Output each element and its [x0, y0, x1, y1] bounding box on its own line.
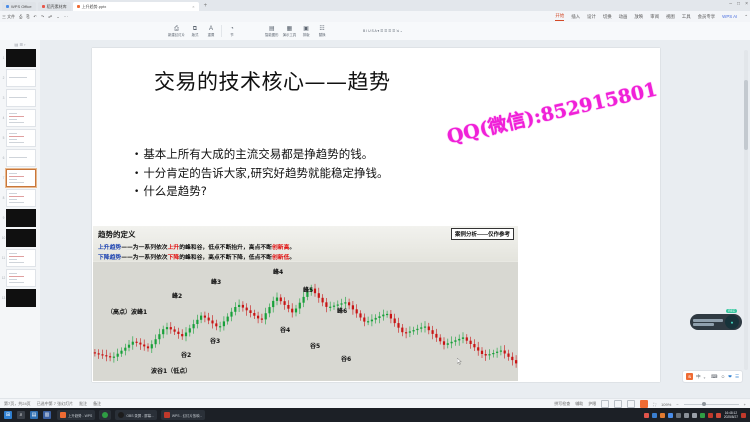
file-menu-button[interactable]: 三 文件	[0, 14, 17, 20]
thumbnail-line	[9, 273, 17, 274]
ribbon-tab-slideshow[interactable]: 放映	[634, 14, 643, 20]
ribbon-tab-wps-ai[interactable]: WPS AI	[722, 14, 737, 19]
thumbnail-row[interactable]: 3	[0, 88, 40, 108]
taskbar-app-wps-show[interactable]: WPS - 幻灯片放映...	[161, 410, 206, 420]
cloud-icon[interactable]	[668, 413, 673, 418]
thumbnail-image[interactable]	[6, 49, 36, 67]
smartart-button[interactable]: ▤ 智能图形	[265, 26, 279, 37]
uptrend-definition: 上升趋势——为一系列依次上升的峰和谷，低点不断抬升，高点不断创新高。	[98, 242, 295, 251]
thumbnail-line	[9, 262, 24, 263]
reading-view-button[interactable]	[627, 400, 635, 408]
thumbnail-image[interactable]	[6, 109, 36, 127]
thumbnail-line	[9, 77, 27, 78]
thumbnail-image[interactable]	[6, 189, 36, 207]
thumbnail-line	[9, 139, 17, 140]
app-label: WPS - 幻灯片放映...	[172, 413, 203, 418]
chart-label: 峰3	[211, 277, 221, 286]
thumbnail-image[interactable]	[6, 229, 36, 247]
thumbnail-line	[9, 157, 27, 158]
smartart-icon: ▤	[269, 26, 275, 32]
thumbnail-row[interactable]: 11	[0, 248, 40, 268]
replace-icon: ☷	[319, 26, 324, 32]
status-right-group: 拼写检查 辅助 护眼 ⛶ 109% − +	[554, 400, 750, 408]
ribbon-divider	[221, 25, 222, 37]
ribbon-tab-review[interactable]: 审阅	[650, 14, 659, 20]
slideshow-view-button[interactable]	[640, 400, 648, 408]
meter-bar	[693, 319, 723, 322]
taskbar-clock[interactable]: 16:48:12 2025/8/27	[724, 411, 738, 419]
thumbnail-line	[9, 196, 24, 197]
customize-icon[interactable]: ⌄	[54, 14, 61, 19]
replace-button[interactable]: ☷ 替换	[316, 26, 328, 37]
chart-label: 波谷1（低点）	[151, 366, 191, 375]
thumbnail-line	[9, 253, 17, 254]
tab-label: WPS Office	[11, 4, 32, 9]
selection-status: 已选中第 7 张幻灯片	[37, 401, 73, 407]
taskbar-app-chrome[interactable]	[99, 410, 111, 420]
recording-badge: REC	[726, 309, 737, 313]
layout-label: 版式	[192, 33, 199, 37]
uptrend-mid: 的峰和谷，低点不断抬升，高点不断	[179, 245, 272, 251]
present-tools-label: 演示工具	[283, 33, 297, 37]
thumbnail-line	[9, 279, 17, 280]
undo-icon[interactable]: ↶	[32, 14, 39, 19]
app-label: OBS 录屏 - 屏幕...	[126, 413, 154, 418]
thumbnail-line	[9, 276, 24, 277]
thumbnail-line	[9, 259, 17, 260]
app-icon	[118, 412, 124, 418]
chat-icon[interactable]	[644, 413, 649, 418]
ime-menu-icon[interactable]: ☰	[735, 374, 739, 380]
uptrend-end: 。	[289, 245, 295, 251]
wifi-icon[interactable]	[700, 413, 705, 418]
section-label: 节	[230, 33, 233, 37]
thumbnail-line	[9, 136, 24, 137]
thumbnail-line	[9, 182, 24, 183]
fit-window-icon[interactable]: ⛶	[653, 402, 656, 407]
thumbnail-image[interactable]	[6, 149, 36, 167]
ribbon-tab-insert[interactable]: 插入	[571, 14, 580, 20]
chart-label: （高点）波峰1	[107, 307, 147, 316]
ribbon-collapse-icon[interactable]: ⌃	[744, 14, 748, 20]
ime-logo-icon: S	[686, 373, 693, 380]
search-icon[interactable]: ⌕	[17, 411, 25, 419]
app-icon	[102, 412, 108, 418]
thumbnail-row[interactable]: 9	[0, 208, 40, 228]
eye-protection-button[interactable]: 护眼	[588, 401, 596, 407]
new-tab-button[interactable]: +	[201, 2, 211, 11]
close-window-icon[interactable]: ×	[745, 1, 748, 7]
thumbnail-line	[9, 116, 24, 117]
thumbnail-line	[9, 173, 17, 174]
downtrend-hi2: 创新低	[272, 255, 289, 261]
thumbnail-image[interactable]	[6, 269, 36, 287]
thumbnail-image[interactable]	[6, 169, 36, 187]
bullet-item: 什么是趋势?	[134, 182, 614, 201]
downtrend-hi: 下降	[168, 255, 180, 261]
system-tray: 16:48:12 2025/8/27	[644, 411, 750, 419]
uptrend-hi: 上升	[168, 245, 180, 251]
tab-icon	[42, 5, 45, 8]
minimize-icon[interactable]: –	[729, 1, 732, 7]
thumbnail-line	[9, 256, 24, 257]
taskbar-app-wps[interactable]: 上升趋势 - WPS	[57, 410, 95, 420]
replace-label: 替换	[319, 33, 326, 37]
meter-bar	[693, 323, 714, 326]
thumbnail-line	[9, 113, 17, 114]
tab-label: 上升趋势.pptx	[82, 4, 191, 10]
ime-keyboard-icon[interactable]: ⌨	[711, 374, 718, 380]
image-heading: 趋势的定义	[98, 229, 136, 240]
tab-docer[interactable]: 稻壳素材库	[38, 2, 71, 11]
typeset-button[interactable]: ▣ 排版	[300, 26, 312, 37]
close-icon[interactable]: ×	[192, 4, 194, 9]
trend-definition-image[interactable]: 趋势的定义 案例分析——仅作参考 上升趋势——为一系列依次上升的峰和谷，低点不断…	[93, 226, 518, 381]
chart-label: 谷6	[341, 354, 351, 363]
maximize-icon[interactable]: □	[737, 1, 740, 7]
redo-icon[interactable]: ↷	[39, 14, 46, 19]
touch-icon[interactable]: ☍	[46, 14, 54, 19]
status-left-group: 第7页，共24页 已选中第 7 张幻灯片 批注 备注	[0, 401, 101, 407]
thumbnail-row[interactable]: 6	[0, 148, 40, 168]
reset-button[interactable]: A 重置	[205, 26, 217, 37]
tab-icon	[6, 5, 9, 8]
thumbnail-line	[9, 122, 24, 123]
shield-icon[interactable]	[676, 413, 681, 418]
thumbnail-line	[9, 193, 17, 194]
slide-title[interactable]: 交易的技术核心——趋势	[154, 66, 584, 96]
smartart-label: 智能图形	[265, 33, 279, 37]
ime-icon[interactable]	[652, 413, 657, 418]
thumbnail-panel-header: ▤ ☰ ›	[0, 40, 40, 48]
downtrend-end: 。	[289, 255, 295, 261]
zoom-level-label: 109%	[661, 402, 671, 407]
taskbar-app-obs[interactable]: OBS 录屏 - 屏幕...	[115, 410, 157, 420]
typeset-icon: ▣	[303, 26, 309, 32]
widgets-icon[interactable]: ▥	[43, 411, 51, 419]
font-format-controls[interactable]: B I U S A ▾ ☰ ☰ ☰ ☰ ⇲ ⌄	[363, 29, 403, 33]
bullet-item: 十分肯定的告诉大家,研究好趋势就能稳定挣钱。	[134, 164, 614, 183]
reset-icon: A	[209, 26, 213, 32]
spellcheck-button[interactable]: 拼写检查	[554, 401, 570, 407]
thumbnail-row[interactable]: 10	[0, 228, 40, 248]
vertical-scrollbar[interactable]	[744, 50, 748, 370]
zoom-slider-handle[interactable]	[702, 402, 706, 406]
ribbon: ⎙ 新建幻灯片 ⧉ 版式 A 重置 ◔ 节 ▤ 智能图形 ▦	[0, 22, 750, 41]
thumbnail-line	[9, 176, 24, 177]
chart-label: 谷3	[210, 336, 220, 345]
thumbnail-line	[9, 199, 17, 200]
start-icon[interactable]: ⊞	[4, 411, 12, 419]
new-slide-label: 新建幻灯片	[168, 33, 185, 37]
more-icon[interactable]: ⋯	[62, 14, 70, 19]
ribbon-tab-tools[interactable]: 工具	[682, 14, 691, 20]
ribbon-tab-transition[interactable]: 切换	[603, 14, 612, 20]
comment-button[interactable]: 批注	[79, 401, 87, 407]
thumbnail-image[interactable]	[6, 69, 36, 87]
app-icon	[164, 412, 170, 418]
new-slide-icon: ⎙	[174, 26, 179, 32]
thumbnail-image[interactable]	[6, 249, 36, 267]
battery-icon[interactable]	[684, 413, 689, 418]
case-study-badge: 案例分析——仅作参考	[451, 228, 514, 240]
chart-label: 谷5	[310, 341, 320, 350]
slide-position-status: 第7页，共24页	[4, 401, 31, 407]
ime-chinese-icon[interactable]: 中	[696, 374, 701, 380]
tab-icon	[77, 5, 80, 8]
current-slide[interactable]: 交易的技术核心——趋势 基本上所有大成的主流交易都是挣趋势的钱。 十分肯定的告诉…	[92, 48, 660, 382]
taskbar-app-group: 上升趋势 - WPS OBS 录屏 - 屏幕... WPS - 幻灯片放映...	[51, 410, 205, 420]
thumbnail-line	[9, 97, 27, 98]
app-icon	[60, 412, 66, 418]
slide-bullet-list[interactable]: 基本上所有大成的主流交易都是挣趋势的钱。 十分肯定的告诉大家,研究好趋势就能稳定…	[134, 145, 614, 201]
taskbar-system-group: ⊞ ⌕ ▤ ▥	[0, 411, 51, 419]
taskview-icon[interactable]: ▤	[30, 411, 38, 419]
notes-button[interactable]: 备注	[93, 401, 101, 407]
ribbon-tab-design[interactable]: 设计	[587, 14, 596, 20]
reset-label: 重置	[208, 33, 215, 37]
thumbnail-line	[9, 282, 24, 283]
ime-emoji-icon[interactable]: ☺	[721, 374, 726, 379]
downtrend-term: 下降趋势	[98, 255, 121, 261]
thumbnail-line	[9, 202, 24, 203]
thumbnail-row[interactable]: 5	[0, 128, 40, 148]
thumbnail-row[interactable]: 8	[0, 188, 40, 208]
window-controls: – □ ×	[729, 1, 748, 7]
sorter-view-button[interactable]	[614, 400, 622, 408]
floating-recorder-widget[interactable]: ⏺	[690, 314, 742, 330]
thumbnail-line	[9, 119, 17, 120]
thumbnail-row[interactable]: 1	[0, 48, 40, 68]
thumbnail-line	[9, 179, 17, 180]
layout-icon: ⧉	[193, 26, 197, 32]
bullet-item: 基本上所有大成的主流交易都是挣趋势的钱。	[134, 145, 614, 164]
thumbnail-row[interactable]: 2	[0, 68, 40, 88]
print-icon[interactable]: ⎘	[24, 14, 31, 19]
chart-label: 峰5	[303, 285, 313, 294]
section-icon: ◔	[230, 26, 234, 32]
typeset-label: 排版	[303, 33, 310, 37]
downtrend-dash: ——为一系列依次	[121, 255, 167, 261]
thumbnail-image[interactable]	[6, 289, 36, 307]
ime-skin-icon[interactable]: ❤	[728, 374, 732, 380]
ribbon-tab-strip: 开始 插入 设计 切换 动画 放映 审阅 视图 工具 会员专享 WPS AI ⌃	[555, 11, 748, 22]
section-button[interactable]: ◔ 节	[226, 26, 238, 37]
mouse-cursor-icon	[457, 358, 462, 365]
app-label: 上升趋势 - WPS	[68, 413, 92, 418]
chart-label: 峰6	[337, 306, 347, 315]
tab-label: 稻壳素材库	[47, 4, 67, 10]
zoom-out-button[interactable]: −	[676, 402, 678, 407]
tab-wps-office[interactable]: WPS Office	[2, 2, 36, 11]
window-tab-bar: WPS Office 稻壳素材库 上升趋势.pptx × + – □ ×	[0, 0, 750, 11]
uptrend-hi2: 创新高	[272, 245, 289, 251]
tab-current-file[interactable]: 上升趋势.pptx ×	[73, 2, 199, 11]
thumbnail-image[interactable]	[6, 89, 36, 107]
windows-taskbar: ⊞ ⌕ ▤ ▥ 上升趋势 - WPS OBS 录屏 - 屏幕... WPS - …	[0, 408, 750, 422]
ribbon-tab-view[interactable]: 视图	[666, 14, 675, 20]
thumbnail-list[interactable]: 12345678910111213	[0, 48, 40, 308]
ribbon-tab-member[interactable]: 会员专享	[698, 14, 716, 20]
wps-presentation-window: WPS Office 稻壳素材库 上升趋势.pptx × + – □ × 三 文…	[0, 0, 750, 422]
save-icon[interactable]: ⎙	[17, 14, 24, 19]
thumbnail-row[interactable]: 4	[0, 108, 40, 128]
candlestick-series	[93, 262, 518, 381]
volume-icon[interactable]	[692, 413, 697, 418]
zoom-in-button[interactable]: +	[744, 402, 746, 407]
downtrend-mid: 的峰和谷，高点不断下降，低点不断	[179, 255, 272, 261]
thumbnail-row[interactable]: 7	[0, 168, 40, 188]
downtrend-definition: 下降趋势——为一系列依次下降的峰和谷，高点不断下降，低点不断创新低。	[98, 252, 295, 261]
recorder-toggle-button[interactable]: ⏺	[725, 315, 739, 329]
chart-label: 峰2	[172, 291, 182, 300]
uptrend-dash: ——为一系列依次	[121, 245, 167, 251]
chart-label: 谷4	[280, 325, 290, 334]
ime-punctuation-icon[interactable]: 。	[704, 374, 709, 380]
thumbnail-image[interactable]	[6, 209, 36, 227]
thumbnail-row[interactable]: 13	[0, 288, 40, 308]
present-tools-icon: ▦	[287, 26, 293, 32]
present-tools-button[interactable]: ▦ 演示工具	[283, 26, 297, 37]
clock-date: 2025/8/27	[724, 415, 738, 419]
ime-toolbar[interactable]: S 中 。 ⌨ ☺ ❤ ☰	[682, 370, 743, 383]
thumbnail-row[interactable]: 12	[0, 268, 40, 288]
notification-icon[interactable]	[741, 413, 746, 418]
ribbon-tab-animation[interactable]: 动画	[619, 14, 628, 20]
net-icon[interactable]	[660, 413, 665, 418]
ribbon-tab-start[interactable]: 开始	[555, 13, 564, 21]
recorder-meters	[693, 319, 723, 326]
chart-label: 谷2	[181, 350, 191, 359]
chart-label: 峰4	[273, 267, 283, 276]
uptrend-term: 上升趋势	[98, 245, 121, 251]
thumbnail-line	[9, 142, 24, 143]
accessibility-button[interactable]: 辅助	[575, 401, 583, 407]
zoom-slider[interactable]	[684, 404, 739, 405]
scrollbar-thumb[interactable]	[744, 80, 748, 150]
thumbnail-image[interactable]	[6, 129, 36, 147]
layout-button[interactable]: ⧉ 版式	[189, 26, 201, 37]
mic-icon[interactable]	[708, 413, 713, 418]
slide-thumbnail-panel[interactable]: ▤ ☰ › 12345678910111213	[0, 40, 41, 398]
normal-view-button[interactable]	[601, 400, 609, 408]
thumbnail-line	[9, 133, 17, 134]
bell-icon[interactable]	[716, 413, 721, 418]
new-slide-button[interactable]: ⎙ 新建幻灯片	[168, 26, 185, 37]
candlestick-chart: （高点）波峰1波谷1（低点）峰2谷2峰3谷3峰4谷4峰5谷5峰6谷6	[93, 262, 518, 381]
slide-editing-canvas[interactable]: 交易的技术核心——趋势 基本上所有大成的主流交易都是挣趋势的钱。 十分肯定的告诉…	[40, 40, 750, 398]
